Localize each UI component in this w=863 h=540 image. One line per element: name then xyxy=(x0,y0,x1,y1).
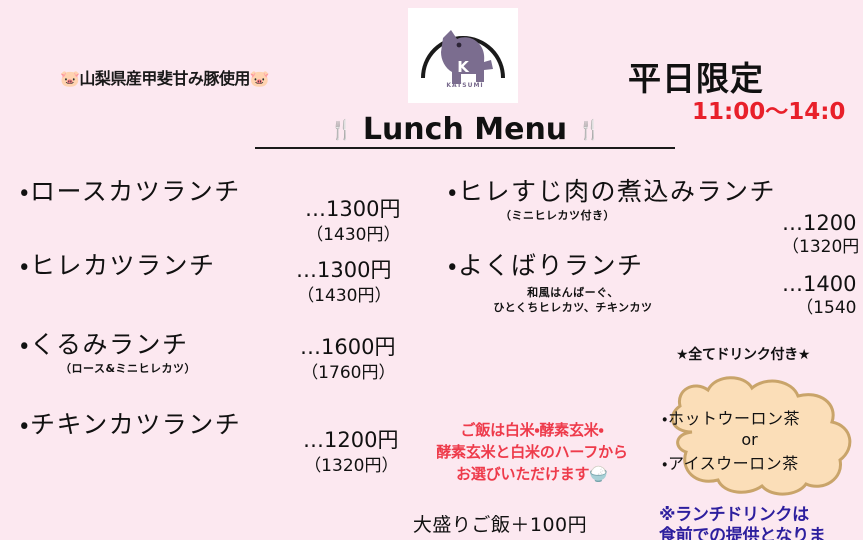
menu-item-price: …1600円 （1760円） xyxy=(300,331,395,383)
cutlery-left-icon: 🍴 xyxy=(330,119,353,141)
menu-item-subtitle-line2: ひとくちヒレカツ、チキンカツ xyxy=(448,299,698,315)
drinks-option-list: ・ホットウーロン茶 or ・アイスウーロン茶 xyxy=(662,405,863,474)
drink-footnote-line2: 食前での提供となりま xyxy=(659,526,826,540)
drink-option-iced: ・アイスウーロン茶 xyxy=(662,450,863,474)
title-divider xyxy=(255,147,675,149)
drinks-included-header: ★全てドリンク付き★ xyxy=(676,344,810,364)
pig-logo-icon: K KATSUMI xyxy=(413,12,513,100)
price-tax-value: （1320円 xyxy=(782,232,859,257)
drink-timing-footnote: ※ランチドリンクは 食前での提供となりま xyxy=(659,505,826,540)
price-value: …1200円 xyxy=(303,424,398,454)
menu-item-hire-katsu: ・ヒレカツランチ xyxy=(20,246,216,282)
menu-item-price: …1200 （1320円 xyxy=(782,211,859,257)
menu-item-name: ・くるみランチ xyxy=(20,325,196,361)
menu-item-name: ・ヒレカツランチ xyxy=(20,246,216,282)
menu-item-chicken-katsu: ・チキンカツランチ xyxy=(20,405,241,441)
rice-note-line2: 酵素玄米と白米のハーフから xyxy=(396,442,668,464)
menu-item-name: ・よくばりランチ xyxy=(448,246,698,282)
lunch-hours-label: 11:00〜14:0 xyxy=(692,92,845,126)
menu-item-hiresuji-nikomi: ・ヒレすじ肉の煮込みランチ （ミニヒレカツ付き） xyxy=(448,172,776,223)
price-value: …1600円 xyxy=(300,331,395,361)
menu-item-price: …1400 （1540 xyxy=(782,272,856,318)
menu-item-subtitle-line1: 和風はんばーぐ、 xyxy=(448,284,698,300)
cutlery-right-icon: 🍴 xyxy=(578,119,601,141)
price-value: …1300円 xyxy=(296,254,391,284)
pork-origin-note: 🐷山梨県産甲斐甘み豚使用🐷 xyxy=(60,65,269,89)
menu-item-price: …1300円 （1430円） xyxy=(305,193,400,245)
menu-item-subtitle: （ロース&ミニヒレカツ） xyxy=(60,360,196,376)
logo-letter: K xyxy=(457,58,470,76)
price-tax-value: （1430円） xyxy=(296,281,391,306)
large-rice-note: 大盛りご飯＋100円 xyxy=(355,510,645,537)
rice-choice-note: ご飯は白米・酵素玄米・ 酵素玄米と白米のハーフから お選びいただけます🍚 xyxy=(396,420,668,485)
menu-item-price: …1300円 （1430円） xyxy=(296,254,391,306)
menu-item-name: ・チキンカツランチ xyxy=(20,405,241,441)
price-value: …1300円 xyxy=(305,193,400,223)
menu-item-price: …1200円 （1320円） xyxy=(303,424,398,476)
menu-item-name: ・ヒレすじ肉の煮込みランチ xyxy=(448,172,776,208)
menu-item-name: ・ロースカツランチ xyxy=(20,172,241,208)
price-tax-value: （1430円） xyxy=(305,220,400,245)
rice-note-line3: お選びいただけます🍚 xyxy=(396,464,668,486)
page-title: 🍴 Lunch Menu 🍴 xyxy=(255,112,675,147)
menu-item-kurumi: ・くるみランチ （ロース&ミニヒレカツ） xyxy=(20,325,196,376)
menu-item-yokubari: ・よくばりランチ 和風はんばーぐ、 ひとくちヒレカツ、チキンカツ xyxy=(448,246,698,315)
price-tax-value: （1320円） xyxy=(303,451,398,476)
lunch-menu-poster: 🐷山梨県産甲斐甘み豚使用🐷 K KATSUMI 平日限定 11:00〜14:0 … xyxy=(0,0,863,540)
logo-caption: KATSUMI xyxy=(446,82,483,89)
menu-item-rosu-katsu: ・ロースカツランチ xyxy=(20,172,241,208)
drink-footnote-line1: ※ランチドリンクは xyxy=(659,505,826,526)
rice-note-line1: ご飯は白米・酵素玄米・ xyxy=(396,420,668,442)
price-tax-value: （1540 xyxy=(782,293,856,318)
drink-separator: or xyxy=(662,430,837,449)
restaurant-logo: K KATSUMI xyxy=(408,8,518,103)
menu-item-subtitle: （ミニヒレカツ付き） xyxy=(500,207,776,223)
drink-option-hot: ・ホットウーロン茶 xyxy=(662,405,863,429)
page-title-text: Lunch Menu xyxy=(363,112,567,147)
price-tax-value: （1760円） xyxy=(300,358,395,383)
